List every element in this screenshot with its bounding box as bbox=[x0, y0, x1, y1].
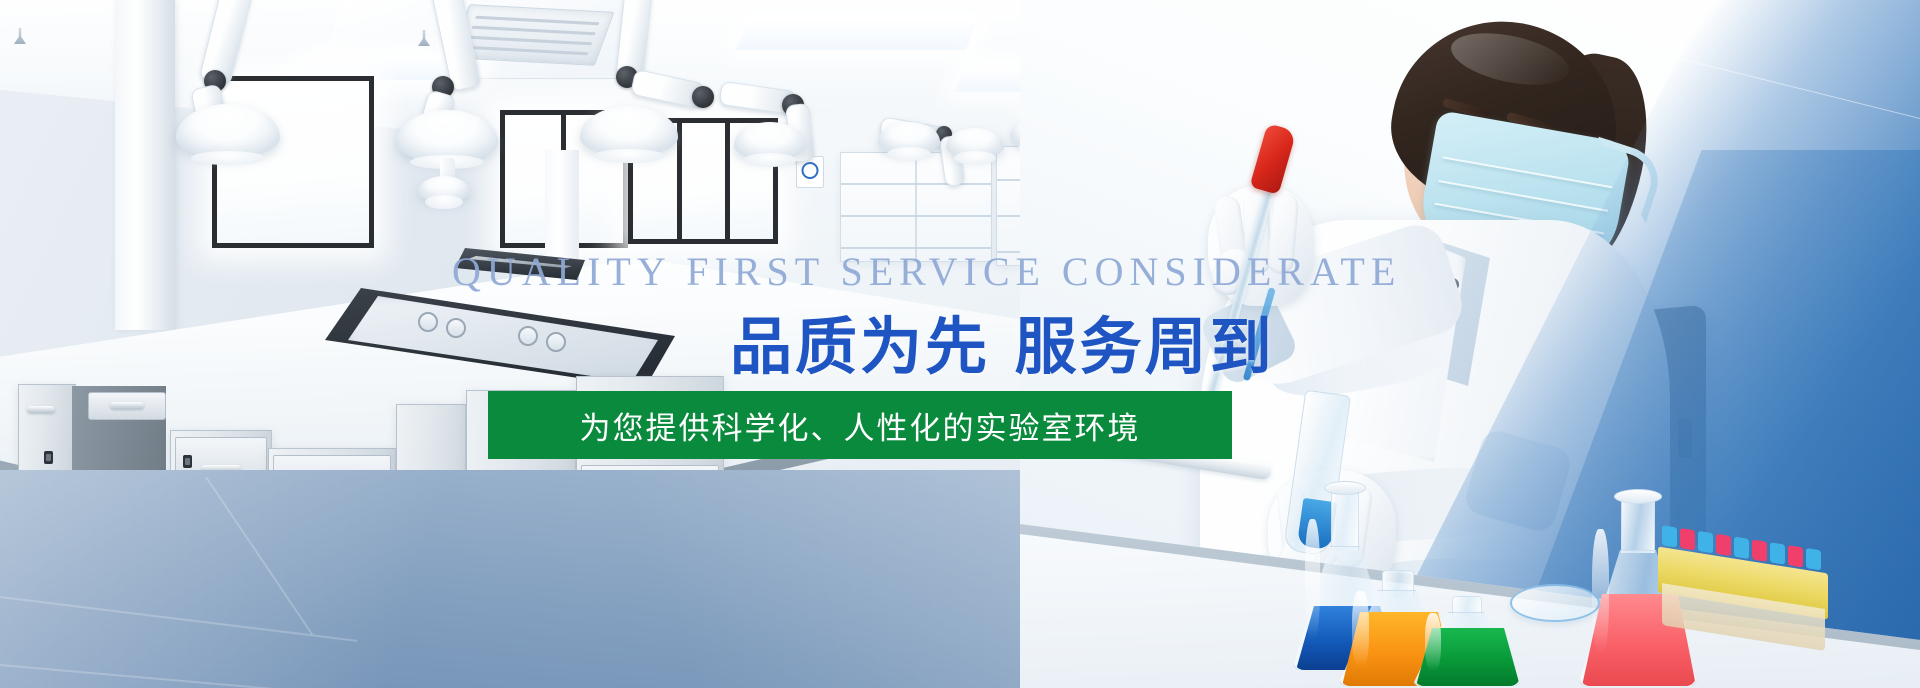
tube-cap bbox=[1662, 525, 1677, 547]
tube-cap bbox=[1770, 542, 1785, 564]
floor-reflection bbox=[0, 470, 1120, 688]
sink-control-knob bbox=[546, 332, 566, 352]
banner-subtitle-text: 为您提供科学化、人性化的实验室环境 bbox=[580, 403, 1141, 448]
pipette-bulb bbox=[1249, 123, 1296, 195]
petri-dish bbox=[1510, 584, 1600, 622]
tube-cap bbox=[1788, 545, 1803, 567]
sink-control-knob bbox=[418, 312, 438, 332]
hero-banner: QUALITY FIRST SERVICE CONSIDERATE 品质为先 服… bbox=[0, 0, 1920, 688]
flask-green bbox=[1412, 596, 1522, 688]
ceiling-light-panel bbox=[736, 20, 978, 50]
tube-cap bbox=[1806, 548, 1821, 570]
tube-cap bbox=[1698, 531, 1713, 553]
tube-cap bbox=[1752, 539, 1767, 561]
banner-headline-english: QUALITY FIRST SERVICE CONSIDERATE bbox=[452, 248, 1401, 295]
banner-subtitle-bar: 为您提供科学化、人性化的实验室环境 bbox=[488, 391, 1232, 459]
tube-cap bbox=[1716, 534, 1731, 556]
extraction-hood bbox=[878, 122, 940, 154]
cabinet-drawer bbox=[88, 392, 166, 420]
extraction-hood bbox=[946, 128, 1004, 158]
extraction-hood bbox=[418, 176, 470, 202]
tube-cap bbox=[1734, 537, 1749, 559]
banner-headline-chinese: 品质为先 服务周到 bbox=[730, 296, 1275, 386]
structural-column bbox=[115, 0, 175, 330]
tube-cap bbox=[1680, 528, 1695, 550]
sink-control-knob bbox=[518, 326, 538, 346]
sink-control-knob bbox=[446, 318, 466, 338]
